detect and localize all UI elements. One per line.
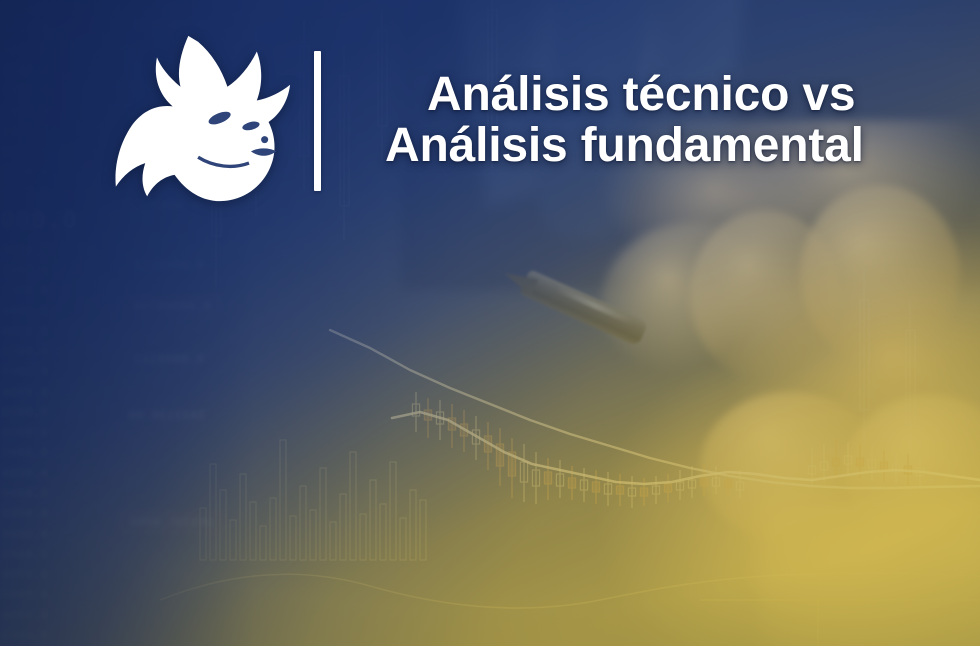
promo-banner: 0000.00000.00000.00000.00000.00000.00000… <box>0 0 980 646</box>
title-divider <box>314 51 321 191</box>
brand-block <box>104 28 321 214</box>
bull-head-logo <box>104 28 300 214</box>
